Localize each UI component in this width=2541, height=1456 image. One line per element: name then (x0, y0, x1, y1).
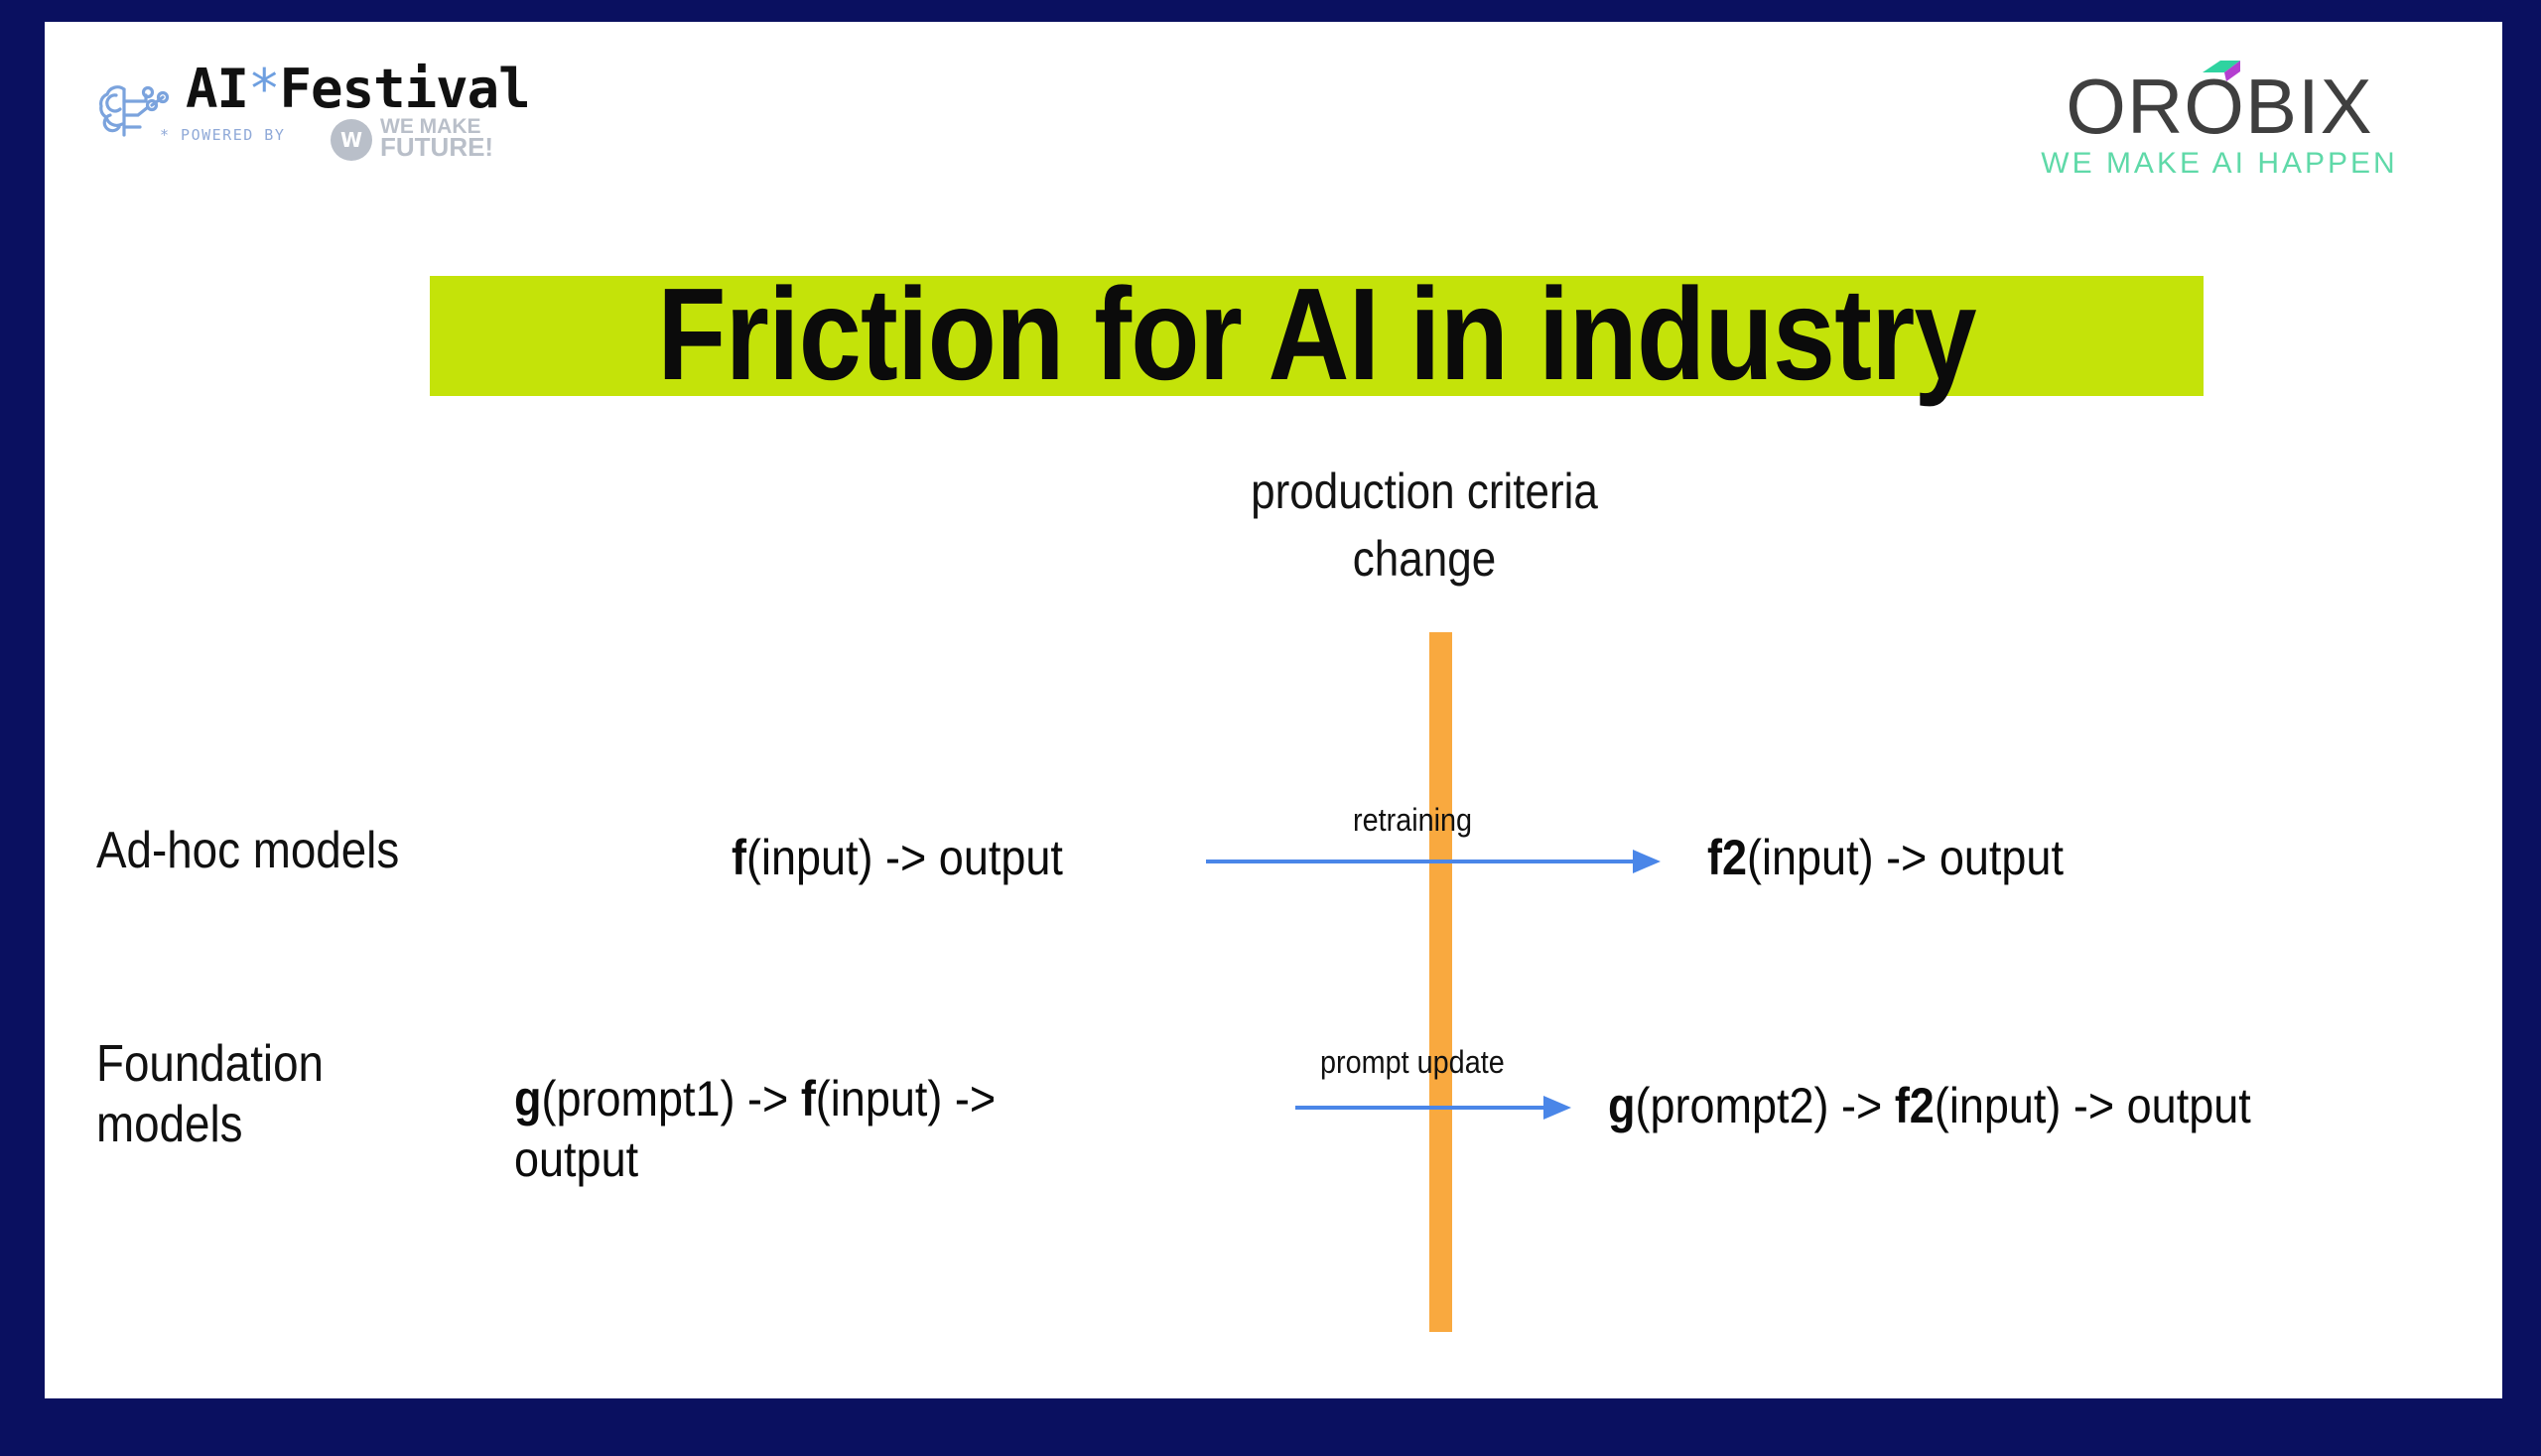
formula-foundation-before-mid2: (input) -> (816, 1071, 996, 1126)
orobix-logo: OROBIX WE MAKE AI HAPPEN (2006, 56, 2433, 187)
we-make-future-wordmark: WE MAKE FUTURE! (380, 117, 493, 160)
formula-adhoc-before: f(input) -> output (732, 828, 1063, 888)
festival-star-icon: * (248, 58, 280, 120)
formula-foundation-after-mid1: (prompt2) -> (1635, 1078, 1894, 1133)
we-make-future-badge-glyph: W (339, 126, 363, 154)
slide-canvas: AI*Festival * POWERED BY W WE MAKE FUTUR… (45, 22, 2502, 1398)
formula-adhoc-after-fn: f2 (1707, 830, 1747, 885)
arrow-caption-retraining: retraining (1353, 802, 1472, 839)
formula-foundation-before-tail: output (514, 1131, 638, 1187)
change-event-divider (1429, 632, 1452, 1332)
formula-adhoc-after-rest: (input) -> output (1747, 830, 2064, 885)
festival-word-text: Festival (280, 58, 530, 120)
title-highlight-band: Friction for AI in industry (430, 276, 2204, 396)
orobix-wordmark: OROBIX (2006, 62, 2433, 152)
orobix-tagline: WE MAKE AI HAPPEN (2006, 147, 2433, 181)
formula-foundation-after-mid2: (input) -> output (1935, 1078, 2251, 1133)
festival-ai-text: AI (186, 58, 248, 120)
ai-festival-wordmark: AI*Festival (186, 58, 530, 120)
formula-adhoc-before-rest: (input) -> output (746, 830, 1063, 885)
formula-foundation-before-f: f (801, 1071, 816, 1126)
formula-foundation-before-g: g (514, 1071, 541, 1126)
page-title: Friction for AI in industry (554, 252, 2079, 416)
prompt-update-arrow-icon (1295, 1084, 1573, 1127)
future-line: FUTURE! (380, 136, 493, 160)
production-criteria-change-label: production criteria change (1180, 459, 1670, 593)
row-label-ad-hoc-models: Ad-hoc models (96, 821, 399, 881)
formula-foundation-after-f2: f2 (1895, 1078, 1935, 1133)
formula-adhoc-after: f2(input) -> output (1707, 828, 2064, 888)
formula-foundation-after: g(prompt2) -> f2(input) -> output (1608, 1076, 2251, 1136)
retraining-arrow-icon (1206, 836, 1663, 883)
ai-festival-logo: AI*Festival * POWERED BY W WE MAKE FUTUR… (94, 52, 610, 181)
we-make-future-badge-icon: W (331, 119, 372, 161)
slide-navy-frame: AI*Festival * POWERED BY W WE MAKE FUTUR… (0, 0, 2541, 1456)
powered-by-label: * POWERED BY (160, 126, 285, 144)
formula-foundation-before: g(prompt1) -> f(input) -> output (514, 1069, 1122, 1190)
row-label-foundation-models: Foundation models (96, 1034, 324, 1156)
formula-adhoc-before-fn: f (732, 830, 746, 885)
formula-foundation-before-mid1: (prompt1) -> (541, 1071, 800, 1126)
formula-foundation-after-g: g (1608, 1078, 1635, 1133)
arrow-caption-prompt-update: prompt update (1320, 1044, 1505, 1081)
